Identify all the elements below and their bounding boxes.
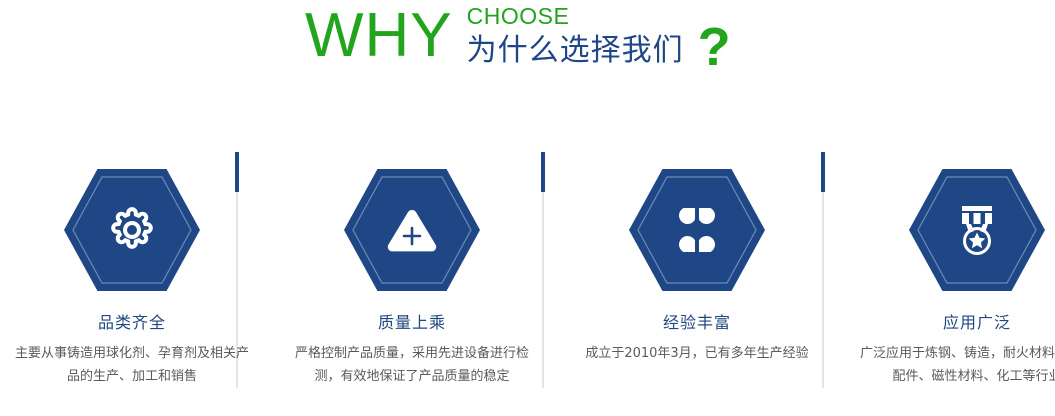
medal-icon <box>908 168 1046 292</box>
hexagon-badge <box>343 168 481 292</box>
feature-column-4[interactable]: 应用广泛 广泛应用于炼钢、铸造，耐火材料、汽车配件、磁性材料、化工等行业 <box>845 140 1055 388</box>
feature-description: 严格控制产品质量，采用先进设备进行检测，有效地保证了产品质量的稳定 <box>280 342 544 388</box>
section-header: WHY CHOOSE 为什么选择我们 ? <box>0 0 1055 96</box>
feature-description: 广泛应用于炼钢、铸造，耐火材料、汽车配件、磁性材料、化工等行业 <box>845 342 1055 388</box>
feature-description: 主要从事铸造用球化剂、孕育剂及相关产品的生产、加工和销售 <box>0 342 264 388</box>
feature-title: 质量上乘 <box>280 312 544 334</box>
gear-icon <box>63 168 201 292</box>
hexagon-badge <box>63 168 201 292</box>
headline-why: WHY <box>305 2 453 70</box>
feature-column-3[interactable]: 经验丰富 成立于2010年3月，已有多年生产经验 <box>565 140 829 365</box>
feature-title: 应用广泛 <box>845 312 1055 334</box>
feature-column-2[interactable]: 质量上乘 严格控制产品质量，采用先进设备进行检测，有效地保证了产品质量的稳定 <box>280 140 544 388</box>
headline-middle-column: CHOOSE 为什么选择我们 <box>467 2 684 69</box>
clover-icon <box>628 168 766 292</box>
hexagon-badge <box>628 168 766 292</box>
triangle-plus-icon <box>343 168 481 292</box>
feature-title: 经验丰富 <box>565 312 829 334</box>
feature-description: 成立于2010年3月，已有多年生产经验 <box>565 342 829 365</box>
header-inner: WHY CHOOSE 为什么选择我们 ? <box>305 2 731 76</box>
hexagon-badge <box>908 168 1046 292</box>
headline-chinese: 为什么选择我们 <box>467 33 684 69</box>
features-row: 品类齐全 主要从事铸造用球化剂、孕育剂及相关产品的生产、加工和销售 <box>0 140 1055 416</box>
feature-title: 品类齐全 <box>0 312 264 334</box>
feature-column-1[interactable]: 品类齐全 主要从事铸造用球化剂、孕育剂及相关产品的生产、加工和销售 <box>0 140 264 388</box>
headline-choose: CHOOSE <box>467 4 684 29</box>
question-mark-icon: ? <box>698 18 731 76</box>
